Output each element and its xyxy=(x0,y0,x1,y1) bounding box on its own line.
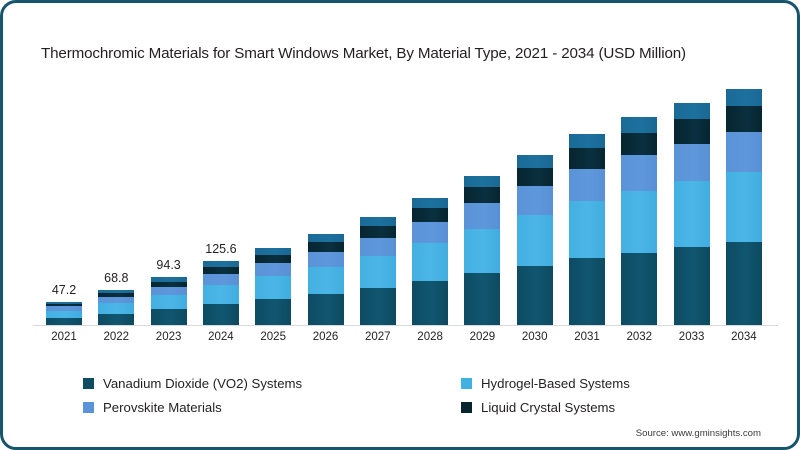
bar-segment xyxy=(517,155,553,168)
bar-group[interactable] xyxy=(464,176,500,326)
x-axis-tick-2028: 2028 xyxy=(412,331,448,343)
bar-group[interactable] xyxy=(517,155,553,326)
legend-item-hydrogel-based[interactable]: Hydrogel-Based Systems xyxy=(461,376,703,391)
bar-segment xyxy=(674,181,710,247)
bar-segment xyxy=(569,201,605,258)
legend-swatch-icon xyxy=(83,402,94,413)
bar-segment xyxy=(203,267,239,274)
legend-label: Hydrogel-Based Systems xyxy=(481,376,630,391)
bar-segment xyxy=(674,103,710,120)
bar-segment xyxy=(464,229,500,273)
bar-group[interactable] xyxy=(255,248,291,326)
bar-segment xyxy=(255,276,291,299)
bar-segment xyxy=(151,295,187,309)
x-axis-tick-2022: 2022 xyxy=(98,331,134,343)
bar-group[interactable] xyxy=(412,198,448,326)
legend-item-perovskite-materials[interactable]: Perovskite Materials xyxy=(83,400,461,415)
bar-segment xyxy=(726,242,762,326)
x-axis-tick-2034: 2034 xyxy=(726,331,762,343)
x-axis-tick-2021: 2021 xyxy=(46,331,82,343)
x-axis-tick-2026: 2026 xyxy=(308,331,344,343)
bar-stack xyxy=(726,89,762,326)
bar-segment xyxy=(255,255,291,263)
bar-stack xyxy=(569,134,605,326)
bar-stack xyxy=(412,198,448,326)
bar-segment xyxy=(255,299,291,326)
bar-value-label: 125.6 xyxy=(205,242,236,256)
bar-segment xyxy=(98,303,134,314)
x-axis-tick-2023: 2023 xyxy=(151,331,187,343)
source-note: Source: www.gminsights.com xyxy=(636,428,761,439)
chart-frame: Thermochromic Materials for Smart Window… xyxy=(0,0,800,450)
legend-label: Perovskite Materials xyxy=(103,400,222,415)
bar-segment xyxy=(621,133,657,156)
legend-swatch-icon xyxy=(461,378,472,389)
bar-segment xyxy=(674,119,710,143)
bar-segment xyxy=(412,222,448,244)
legend-swatch-icon xyxy=(461,402,472,413)
bar-stack xyxy=(464,176,500,326)
bar-segment xyxy=(621,117,657,133)
legend-row: Perovskite Materials Liquid Crystal Syst… xyxy=(83,395,703,419)
bar-segment xyxy=(412,208,448,222)
bar-stack xyxy=(621,117,657,326)
x-axis-tick-2024: 2024 xyxy=(203,331,239,343)
chart-title: Thermochromic Materials for Smart Window… xyxy=(41,45,771,62)
bar-group[interactable]: 68.8 xyxy=(98,290,134,326)
bar-segment xyxy=(360,217,396,225)
chart-legend: Vanadium Dioxide (VO2) Systems Hydrogel-… xyxy=(83,371,703,419)
bar-segment xyxy=(726,172,762,242)
bar-stack xyxy=(203,261,239,326)
bar-value-label: 47.2 xyxy=(52,283,76,297)
bar-segment xyxy=(360,256,396,288)
legend-row: Vanadium Dioxide (VO2) Systems Hydrogel-… xyxy=(83,371,703,395)
bar-segment xyxy=(255,248,291,255)
bar-segment xyxy=(726,132,762,172)
legend-label: Vanadium Dioxide (VO2) Systems xyxy=(103,376,302,391)
bar-value-label: 68.8 xyxy=(104,271,128,285)
bar-segment xyxy=(464,273,500,326)
bar-stack xyxy=(308,234,344,326)
x-axis-tick-2030: 2030 xyxy=(517,331,553,343)
bar-segment xyxy=(255,263,291,276)
bar-segment xyxy=(151,287,187,295)
x-axis-tick-2032: 2032 xyxy=(621,331,657,343)
bar-segment xyxy=(464,203,500,228)
bar-segment xyxy=(726,106,762,132)
bar-stack xyxy=(98,290,134,326)
bar-group[interactable] xyxy=(308,234,344,326)
bar-segment xyxy=(203,304,239,326)
bar-group[interactable]: 94.3 xyxy=(151,277,187,326)
bar-segment xyxy=(412,198,448,208)
bar-segment xyxy=(46,311,82,318)
bar-segment xyxy=(203,274,239,285)
bar-group[interactable]: 47.2 xyxy=(46,302,82,326)
bar-segment xyxy=(308,252,344,268)
bar-segment xyxy=(517,266,553,326)
bar-segment xyxy=(621,155,657,190)
bar-stack xyxy=(360,217,396,326)
bar-segment xyxy=(621,253,657,326)
bar-group[interactable] xyxy=(726,89,762,326)
x-axis-tick-2029: 2029 xyxy=(464,331,500,343)
bar-segment xyxy=(412,243,448,281)
bar-segment xyxy=(360,288,396,326)
bar-segment xyxy=(569,169,605,202)
axis-baseline xyxy=(33,325,778,326)
bar-stack xyxy=(151,277,187,326)
bar-segment xyxy=(674,144,710,182)
bar-segment xyxy=(464,187,500,203)
x-axis-tick-2031: 2031 xyxy=(569,331,605,343)
bar-segment xyxy=(517,168,553,186)
legend-item-vanadium-dioxide[interactable]: Vanadium Dioxide (VO2) Systems xyxy=(83,376,461,391)
x-axis-tick-2027: 2027 xyxy=(360,331,396,343)
bar-segment xyxy=(308,294,344,326)
bar-segment xyxy=(203,285,239,304)
x-axis-tick-2025: 2025 xyxy=(255,331,291,343)
bar-segment xyxy=(464,176,500,187)
bar-segment xyxy=(569,258,605,326)
bar-segment xyxy=(360,226,396,238)
bar-segment xyxy=(308,234,344,242)
legend-label: Liquid Crystal Systems xyxy=(481,400,615,415)
bar-stack xyxy=(46,302,82,326)
bar-stack xyxy=(255,248,291,326)
bar-stack xyxy=(517,155,553,326)
bar-segment xyxy=(726,89,762,106)
bar-segment xyxy=(517,186,553,215)
bar-segment xyxy=(360,238,396,257)
plot-area: 47.268.894.3125.6 xyxy=(33,83,778,326)
bar-stack xyxy=(674,103,710,326)
x-axis-tick-2033: 2033 xyxy=(674,331,710,343)
bar-group[interactable] xyxy=(569,134,605,326)
bar-segment xyxy=(308,267,344,294)
bar-segment xyxy=(569,134,605,148)
bar-segment xyxy=(621,191,657,253)
bar-segment xyxy=(517,215,553,266)
legend-item-liquid-crystal[interactable]: Liquid Crystal Systems xyxy=(461,400,703,415)
bar-segment xyxy=(308,242,344,252)
bar-segment xyxy=(569,148,605,169)
bar-segment xyxy=(674,247,710,326)
bar-group[interactable]: 125.6 xyxy=(203,261,239,326)
bar-group[interactable] xyxy=(360,217,396,326)
bar-value-label: 94.3 xyxy=(156,258,180,272)
bar-group[interactable] xyxy=(674,103,710,326)
bar-segment xyxy=(151,309,187,326)
bar-segment xyxy=(412,281,448,326)
legend-swatch-icon xyxy=(83,378,94,389)
bar-group[interactable] xyxy=(621,117,657,326)
